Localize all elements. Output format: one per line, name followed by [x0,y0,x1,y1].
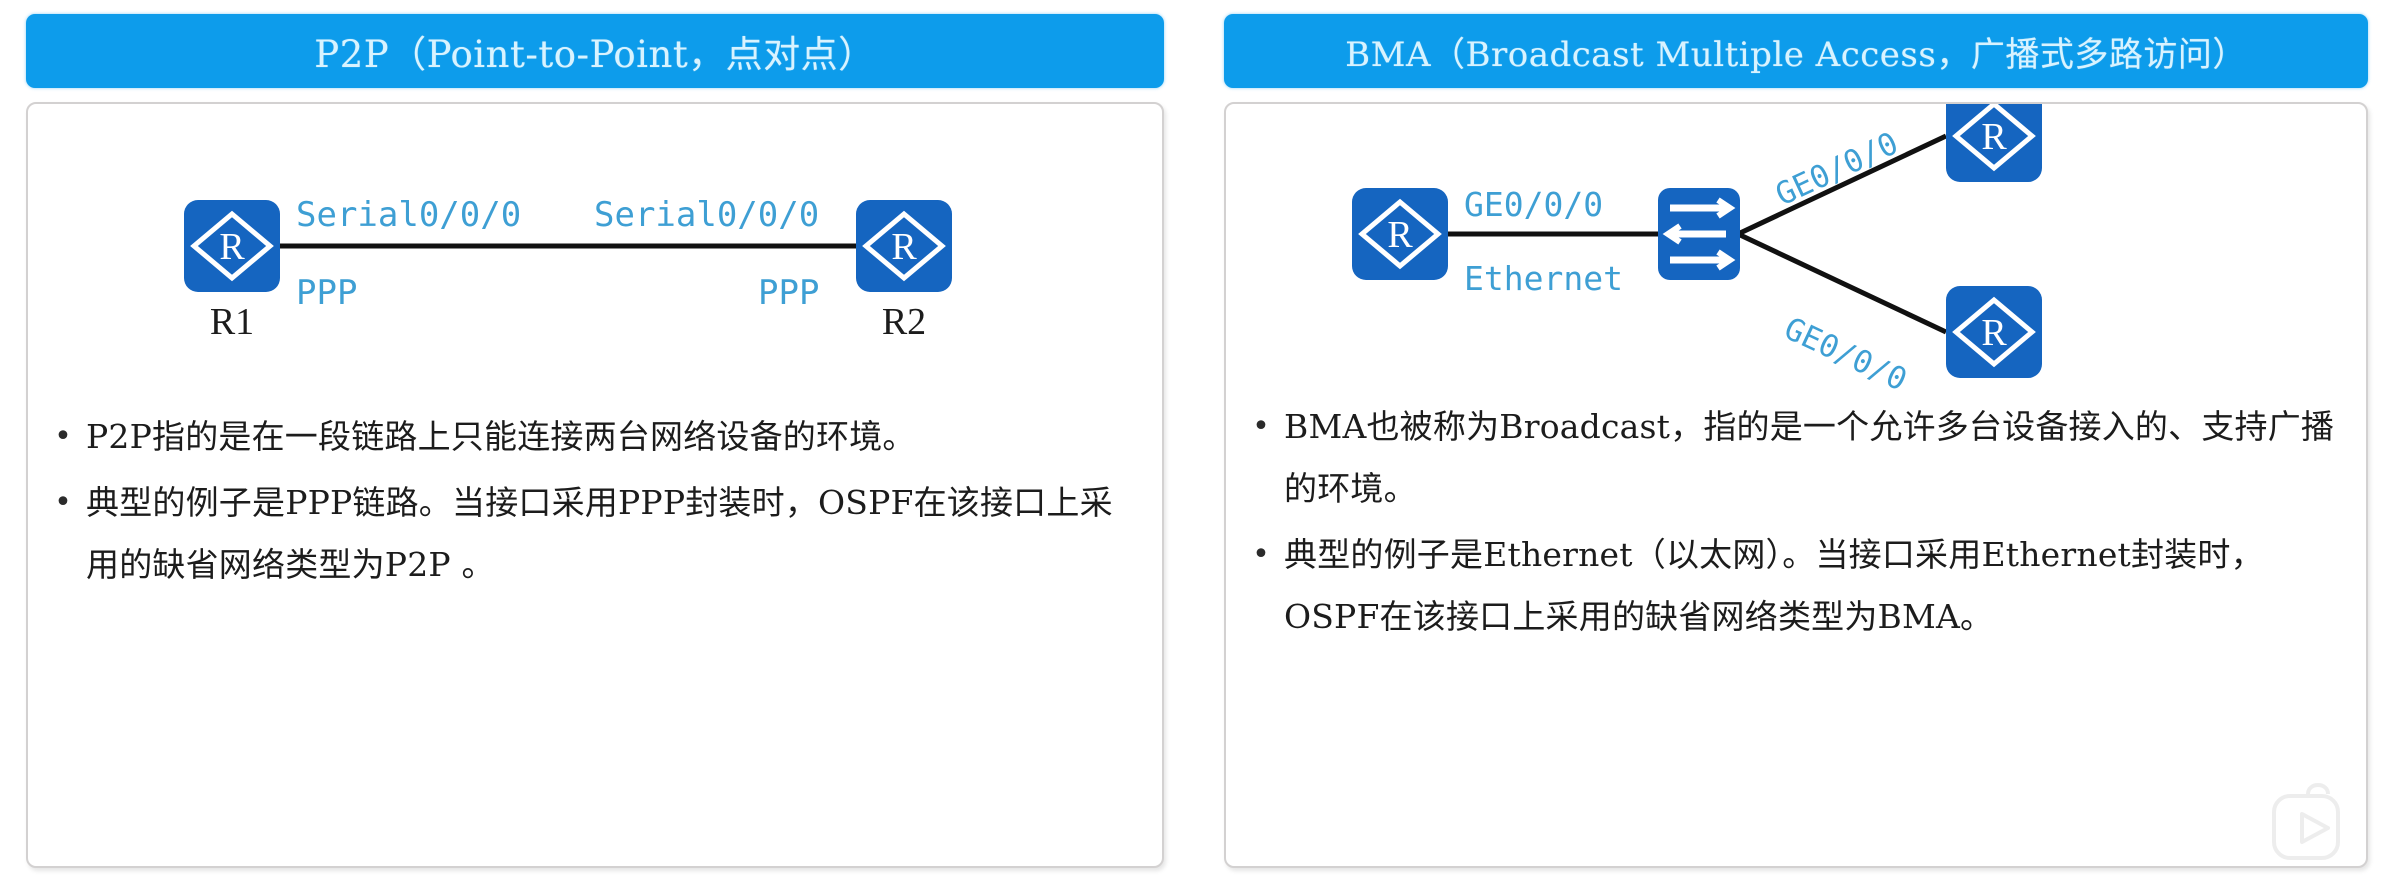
svg-text:R: R [891,226,917,268]
router-icon-bottom-right[interactable]: R [1946,286,2042,378]
bullet-list-p2p: • P2P指的是在一段链路上只能连接两台网络设备的环境。 • 典型的例子是PPP… [40,406,1144,600]
panel-header-p2p: P2P（Point-to-Point，点对点） [26,14,1164,88]
svg-text:R: R [1981,116,2007,158]
panel-header-bma: BMA（Broadcast Multiple Access，广播式多路访问） [1224,14,2368,88]
svg-text:R: R [219,226,245,268]
bullet-text: BMA也被称为Broadcast，指的是一个允许多台设备接入的、支持广播的环境。 [1284,396,2348,520]
bullet-marker: • [40,406,86,468]
router-icon-r1[interactable]: R [184,200,280,292]
bullet-text: 典型的例子是Ethernet（以太网）。当接口采用Ethernet封装时，OSP… [1284,524,2348,648]
svg-text:R: R [1981,312,2007,354]
switch-icon[interactable] [1658,188,1740,280]
play-badge-watermark [2258,778,2354,864]
bma-topology-svg: R [1226,104,2368,404]
diagram-p2p: R R1 R R2 Serial0/0/0 Serial0/0/0 PPP PP… [28,104,1162,404]
iface-label-serial-left: Serial0/0/0 [296,195,521,235]
diagram-bma: R [1226,104,2366,404]
iface-label-ge-lower-branch: GE0/0/0 [1779,311,1913,399]
router-label-r2: R2 [882,301,926,343]
panel-title-bma: BMA（Broadcast Multiple Access，广播式多路访问） [1345,27,2247,76]
bullet-marker: • [1238,396,1284,458]
list-item: • BMA也被称为Broadcast，指的是一个允许多台设备接入的、支持广播的环… [1238,396,2348,520]
bullet-marker: • [1238,524,1284,586]
bullet-text: 典型的例子是PPP链路。当接口采用PPP封装时，OSPF在该接口上采用的缺省网络… [86,472,1144,596]
bullet-list-bma: • BMA也被称为Broadcast，指的是一个允许多台设备接入的、支持广播的环… [1238,396,2348,652]
iface-label-ge-upper-branch: GE0/0/0 [1770,125,1904,213]
encap-label-ethernet: Ethernet [1464,259,1623,298]
list-item: • 典型的例子是Ethernet（以太网）。当接口采用Ethernet封装时，O… [1238,524,2348,648]
encap-label-ppp-left: PPP [296,273,357,313]
p2p-topology-svg: R R1 R R2 Serial0/0/0 Serial0/0/0 PPP PP… [28,104,1164,404]
encap-label-ppp-right: PPP [758,273,819,313]
panel-body-bma: R [1224,102,2368,868]
panel-body-p2p: R R1 R R2 Serial0/0/0 Serial0/0/0 PPP PP… [26,102,1164,868]
iface-label-serial-right: Serial0/0/0 [594,195,819,235]
router-icon-left[interactable]: R [1352,188,1448,280]
router-icon-r2[interactable]: R [856,200,952,292]
bullet-text: P2P指的是在一段链路上只能连接两台网络设备的环境。 [86,406,1144,468]
panel-p2p: P2P（Point-to-Point，点对点） R R1 [0,0,1190,892]
list-item: • P2P指的是在一段链路上只能连接两台网络设备的环境。 [40,406,1144,468]
svg-text:R: R [1387,214,1413,256]
bullet-marker: • [40,472,86,534]
panel-bma: BMA（Broadcast Multiple Access，广播式多路访问） R [1198,0,2394,892]
router-icon-top-right[interactable]: R [1946,104,2042,182]
router-label-r1: R1 [210,301,254,343]
panel-title-p2p: P2P（Point-to-Point，点对点） [314,24,875,78]
link-switch-router-bottom [1738,234,1946,332]
iface-label-ge-left: GE0/0/0 [1464,185,1603,224]
slide-canvas: P2P（Point-to-Point，点对点） R R1 [0,0,2394,892]
list-item: • 典型的例子是PPP链路。当接口采用PPP封装时，OSPF在该接口上采用的缺省… [40,472,1144,596]
